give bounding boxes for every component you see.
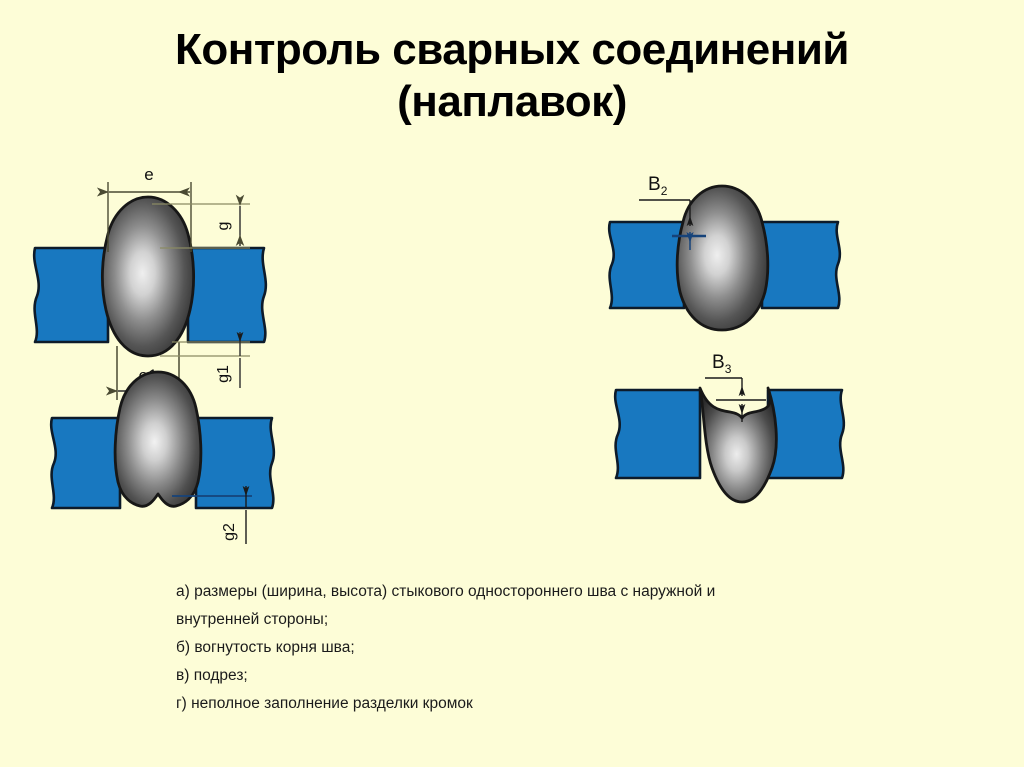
plate-right-v	[762, 222, 840, 308]
label-b3: B3	[712, 352, 732, 376]
weld-bead-b	[115, 372, 201, 506]
plate-left-a	[34, 248, 108, 342]
slide-root: Контроль сварных соединений (наплавок)	[0, 0, 1024, 767]
weld-bead-a	[102, 197, 193, 356]
plate-right-a	[188, 248, 266, 342]
label-g1: g1	[215, 365, 232, 383]
plate-right-b	[196, 418, 274, 508]
label-b2-sub: 2	[661, 184, 668, 198]
figure-area: e g e1 g1	[0, 160, 1024, 560]
label-b2: B2	[648, 174, 668, 198]
caption-line-2: внутренней стороны;	[176, 606, 876, 634]
page-title: Контроль сварных соединений (наплавок)	[0, 24, 1024, 128]
figure-b-group: g2	[51, 372, 274, 544]
label-e: e	[144, 165, 153, 184]
figure-caption: а) размеры (ширина, высота) стыкового од…	[176, 578, 876, 718]
label-g2: g2	[221, 523, 238, 541]
page-title-line-2: (наплавок)	[0, 76, 1024, 128]
weld-bead-g	[700, 388, 776, 502]
figure-a-group: e g e1 g1	[34, 165, 266, 400]
label-g: g	[215, 222, 232, 231]
plate-right-g	[768, 390, 844, 478]
page-title-line-1: Контроль сварных соединений	[175, 25, 849, 74]
caption-line-4: в) подрез;	[176, 662, 876, 690]
label-b3-sub: 3	[725, 362, 732, 376]
label-b3-main: B	[712, 352, 725, 373]
weld-bead-v	[677, 186, 768, 330]
plate-left-g	[615, 390, 700, 478]
caption-line-5: г) неполное заполнение разделки кромок	[176, 690, 876, 718]
label-b2-main: B	[648, 174, 661, 195]
figure-v-group: B2	[609, 174, 840, 330]
caption-line-3: б) вогнутость корня шва;	[176, 634, 876, 662]
caption-line-1: а) размеры (ширина, высота) стыкового од…	[176, 578, 876, 606]
figure-g-group: B3	[615, 352, 844, 502]
plate-left-b	[51, 418, 120, 508]
